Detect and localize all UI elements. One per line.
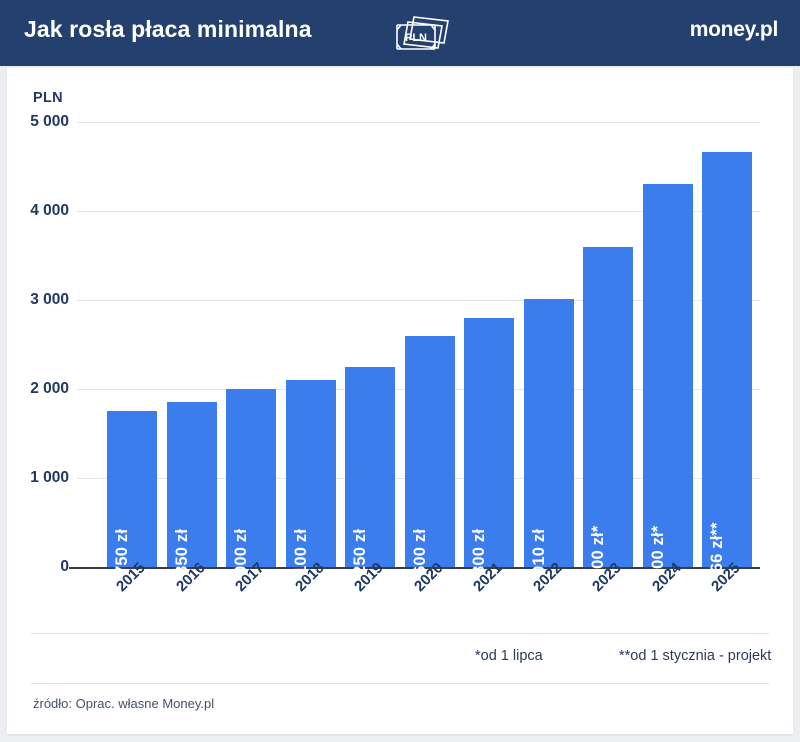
bar-2018[interactable]: 2 100 zł bbox=[286, 380, 336, 567]
y-axis-tick-label: 4 000 bbox=[0, 202, 69, 220]
footer-divider-top bbox=[31, 633, 769, 634]
y-axis-tick-label: 5 000 bbox=[0, 113, 69, 131]
bar-2025[interactable]: 4 666 zł** bbox=[702, 152, 752, 567]
bar-2017[interactable]: 2 000 zł bbox=[226, 389, 276, 567]
bar-chart-plot: 01 0002 0003 0004 0005 0001 750 zł20151 … bbox=[7, 68, 793, 734]
source-credit: źródło: Oprac. własne Money.pl bbox=[33, 696, 214, 711]
bar-2019[interactable]: 2 250 zł bbox=[345, 367, 395, 567]
y-axis-tick-label: 0 bbox=[0, 558, 69, 576]
bar-2022[interactable]: 3 010 zł bbox=[524, 299, 574, 567]
svg-text:PLN: PLN bbox=[405, 32, 427, 44]
bar-2016[interactable]: 1 850 zł bbox=[167, 402, 217, 567]
bar-2020[interactable]: 2 600 zł bbox=[405, 336, 455, 567]
page-title: Jak rosła płaca minimalna bbox=[24, 16, 312, 43]
brand-logo: money.pl bbox=[690, 18, 778, 42]
header-bar: Jak rosła płaca minimalna PLN money.pl bbox=[0, 0, 800, 66]
bar-2015[interactable]: 1 750 zł bbox=[107, 411, 157, 567]
y-axis-tick-label: 1 000 bbox=[0, 469, 69, 487]
bar-2021[interactable]: 2 800 zł bbox=[464, 318, 514, 567]
footnote-double-asterisk: **od 1 stycznia - projekt bbox=[619, 648, 771, 664]
footnote-single-asterisk: *od 1 lipca bbox=[475, 648, 543, 664]
gridline bbox=[77, 122, 760, 123]
y-axis-tick-label: 2 000 bbox=[0, 380, 69, 398]
infographic-root: Jak rosła płaca minimalna PLN money.pl P… bbox=[0, 0, 800, 742]
bar-2023[interactable]: 3 600 zł* bbox=[583, 247, 633, 567]
bar-2024[interactable]: 4 300 zł* bbox=[643, 184, 693, 567]
pln-banknote-icon: PLN bbox=[386, 12, 454, 58]
y-axis-tick-label: 3 000 bbox=[0, 291, 69, 309]
chart-panel: PLN 01 0002 0003 0004 0005 0001 750 zł20… bbox=[7, 68, 793, 734]
footer-divider-bottom bbox=[31, 683, 769, 684]
